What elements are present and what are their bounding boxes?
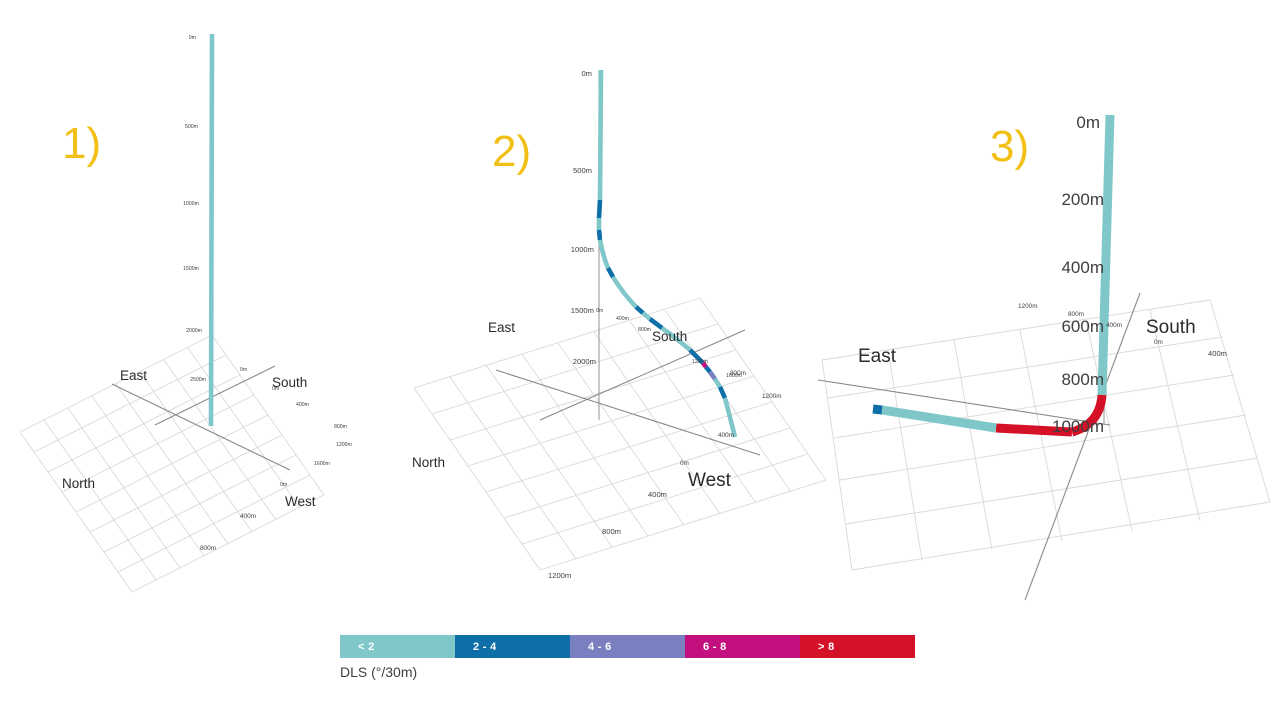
direction-label-south: South bbox=[1146, 317, 1196, 338]
west-tick-label: 800m bbox=[1068, 311, 1084, 318]
south-tick-label: 1200m bbox=[336, 442, 352, 448]
south-tick-label: 400m bbox=[1208, 349, 1227, 358]
legend-segment-4-6[interactable]: 4 - 6 bbox=[570, 635, 685, 658]
depth-ticks-2: 0m 500m 1000m 1500m 2000m bbox=[571, 69, 596, 366]
wellpath-1 bbox=[211, 34, 212, 426]
depth-ticks-3: 0m 200m 400m 600m 800m 1000m bbox=[1052, 113, 1104, 436]
direction-label-east: East bbox=[858, 346, 897, 367]
depth-tick-label: 0m bbox=[1076, 113, 1100, 132]
south-tick-label: 400m bbox=[616, 316, 629, 322]
depth-tick-label: 2000m bbox=[186, 328, 202, 334]
south-tick-label: 0m bbox=[596, 308, 603, 314]
direction-label-east: East bbox=[488, 320, 515, 335]
direction-label-west: West bbox=[688, 470, 732, 491]
south-tick-label: 800m bbox=[334, 424, 347, 430]
south-tick-label: 1600m bbox=[314, 461, 330, 467]
west-tick-label: 400m bbox=[648, 490, 667, 499]
depth-tick-label: 1500m bbox=[571, 306, 594, 315]
well-plot-panel-3: 3) bbox=[810, 0, 1280, 620]
depth-tick-label: 800m bbox=[1061, 370, 1104, 389]
west-tick-extra-label: 1200m bbox=[762, 393, 782, 400]
west-tick-label: 1200m bbox=[1018, 303, 1038, 310]
west-tick-label: 400m bbox=[1106, 322, 1122, 329]
legend-segment-6-8[interactable]: 6 - 8 bbox=[685, 635, 800, 658]
depth-tick-label: 2500m bbox=[190, 377, 206, 383]
depth-tick-label: 1000m bbox=[1052, 417, 1104, 436]
depth-tick-label: 1000m bbox=[183, 201, 199, 207]
south-tick-label: 1200m bbox=[692, 359, 708, 365]
depth-tick-label: 500m bbox=[185, 124, 198, 130]
depth-tick-label: 1000m bbox=[571, 245, 594, 254]
axes-2 bbox=[496, 70, 760, 455]
depth-tick-label: 600m bbox=[1061, 317, 1104, 336]
direction-label-north: North bbox=[62, 476, 95, 491]
west-tick-extra-label: 800m bbox=[730, 370, 746, 377]
west-tick-extra-label: 400m bbox=[718, 432, 734, 439]
south-tick-label: 400m bbox=[296, 402, 309, 408]
direction-label-south: South bbox=[272, 375, 307, 390]
west-tick-label: 0m bbox=[240, 367, 247, 373]
west-tick-label: 1200m bbox=[548, 571, 571, 580]
south-tick-label: 800m bbox=[638, 327, 651, 333]
legend-segment-lt2[interactable]: < 2 bbox=[340, 635, 455, 658]
direction-label-west: West bbox=[285, 494, 316, 509]
west-tick-label: 800m bbox=[602, 527, 621, 536]
depth-tick-label: 200m bbox=[1061, 190, 1104, 209]
west-tick-label: 400m bbox=[240, 513, 256, 520]
grid-floor-1 bbox=[20, 335, 324, 592]
axes-3 bbox=[818, 293, 1140, 600]
west-tick-origin-label: 0m bbox=[280, 482, 287, 488]
direction-label-east: East bbox=[120, 368, 147, 383]
well-plot-panel-1: 1) bbox=[0, 0, 420, 620]
legend-segment-gt8[interactable]: > 8 bbox=[800, 635, 915, 658]
depth-ticks-1: 0m 500m 1000m 1500m 2000m 2500m bbox=[183, 35, 206, 383]
depth-tick-label: 0m bbox=[189, 35, 196, 41]
legend-segment-2-4[interactable]: 2 - 4 bbox=[455, 635, 570, 658]
panel-3-scene: 0m 200m 400m 600m 800m 1000m 0m 400m 400… bbox=[810, 0, 1280, 620]
west-tick-label: 0m bbox=[680, 460, 689, 467]
depth-tick-label: 1500m bbox=[183, 266, 199, 272]
depth-tick-label: 500m bbox=[573, 166, 592, 175]
south-tick-label: 0m bbox=[1154, 339, 1163, 346]
depth-tick-label: 0m bbox=[581, 69, 592, 78]
depth-tick-label: 2000m bbox=[573, 357, 596, 366]
dls-color-legend: < 2 2 - 4 4 - 6 6 - 8 > 8 bbox=[340, 635, 915, 658]
panel-2-scene: 0m 500m 1000m 1500m 2000m 0m 400m 800m 1… bbox=[400, 0, 830, 620]
west-tick-label: 800m bbox=[200, 545, 216, 552]
well-plot-panel-2: 2) bbox=[400, 0, 830, 620]
depth-tick-label: 400m bbox=[1061, 258, 1104, 277]
direction-labels-3: East South bbox=[858, 317, 1196, 367]
south-axis-ticks-1: 0m 400m 800m 1200m 1600m bbox=[272, 386, 352, 467]
panel-1-scene: 0m 500m 1000m 1500m 2000m 2500m 0m 400m … bbox=[0, 0, 420, 620]
wellpath-2 bbox=[599, 70, 735, 437]
direction-label-north: North bbox=[412, 455, 445, 470]
direction-label-south: South bbox=[652, 329, 687, 344]
legend-caption: DLS (°/30m) bbox=[340, 664, 417, 680]
